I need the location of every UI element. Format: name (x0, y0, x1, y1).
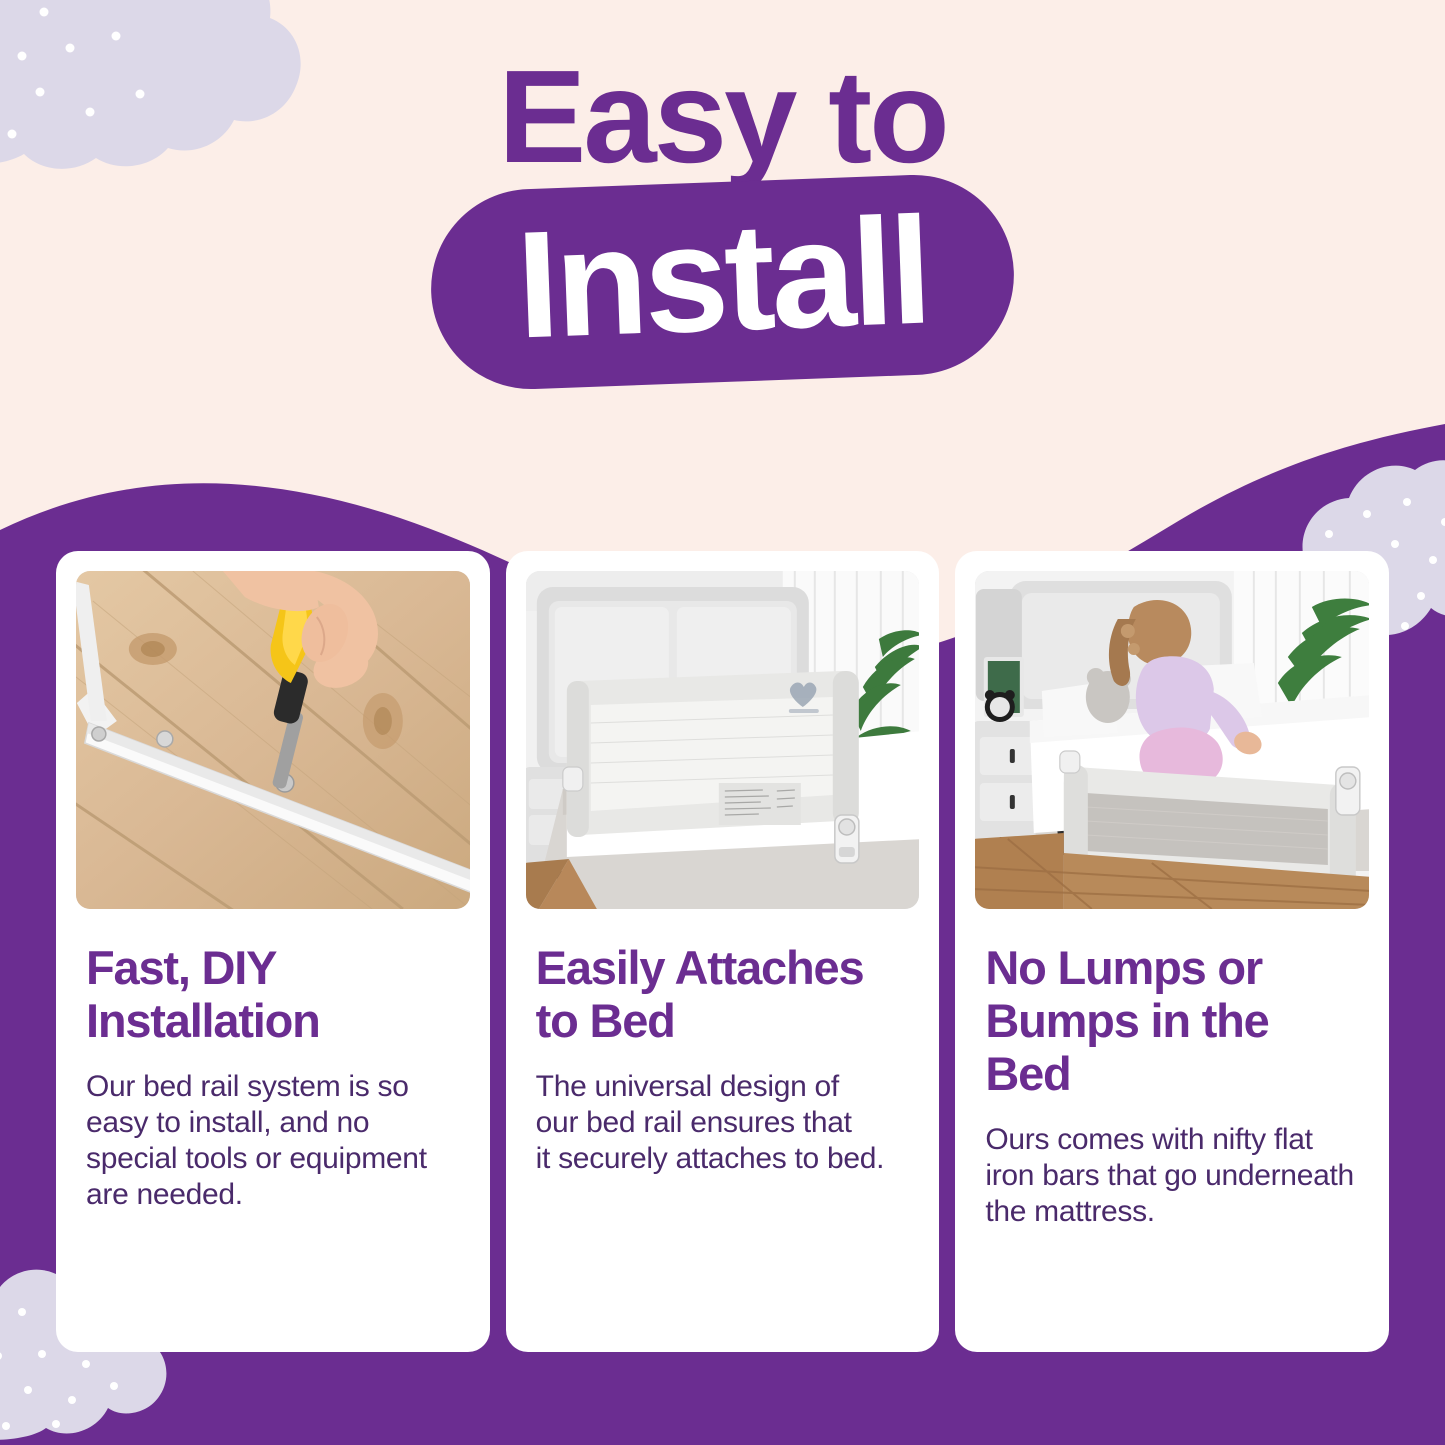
card-title-3: No Lumps or Bumps in the Bed (985, 941, 1359, 1100)
cloud-icon-top-left (0, 0, 304, 216)
card-body-3: No Lumps or Bumps in the Bed Ours comes … (975, 909, 1369, 1230)
feature-cards-row: Fast, DIY Installation Our bed rail syst… (56, 551, 1389, 1352)
feature-card-2: Easily Attaches to Bed The universal des… (506, 551, 940, 1352)
headline-line-install: Install (514, 201, 930, 356)
card-description-3: Ours comes with nifty flat iron bars tha… (985, 1122, 1359, 1230)
card-description-1: Our bed rail system is so easy to instal… (86, 1069, 460, 1213)
card-title-1: Fast, DIY Installation (86, 941, 460, 1047)
infographic-canvas: Easy to Install (0, 0, 1445, 1445)
feature-card-1: Fast, DIY Installation Our bed rail syst… (56, 551, 490, 1352)
photo-child-climbing-bed (975, 571, 1369, 909)
headline-pill: Install (427, 171, 1017, 392)
card-body-1: Fast, DIY Installation Our bed rail syst… (76, 909, 470, 1213)
card-description-2: The universal design of our bed rail ens… (536, 1069, 910, 1177)
card-title-2: Easily Attaches to Bed (536, 941, 910, 1047)
photo-attaches-to-bed (526, 571, 920, 909)
photo-diy-installation (76, 571, 470, 909)
feature-card-3: No Lumps or Bumps in the Bed Ours comes … (955, 551, 1389, 1352)
card-body-2: Easily Attaches to Bed The universal des… (526, 909, 920, 1177)
